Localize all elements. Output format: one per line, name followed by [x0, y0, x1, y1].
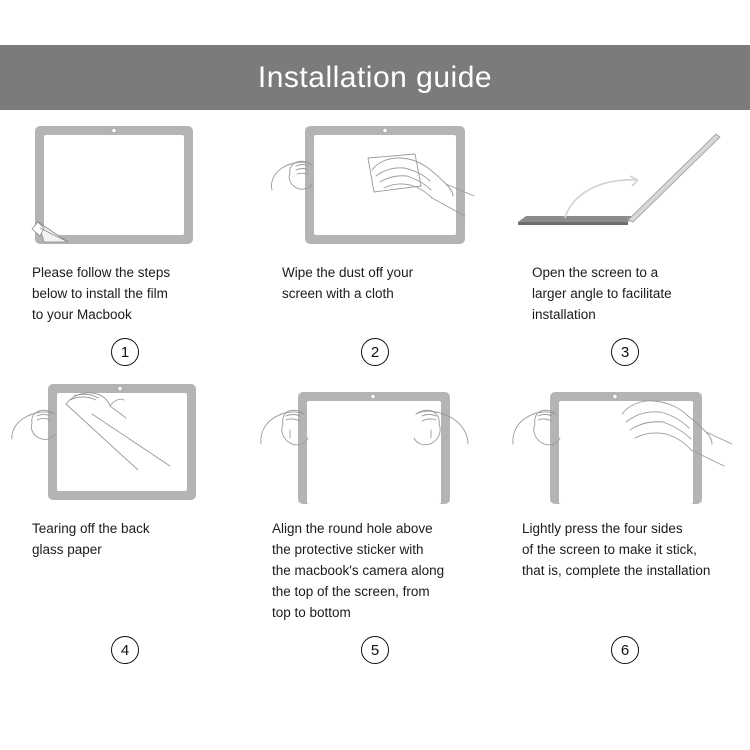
step-5-caption: Align the round hole above the protectiv… [260, 518, 490, 626]
step-number-badge: 2 [361, 338, 389, 366]
step-3-number-wrap: 3 [510, 338, 740, 366]
step-number-badge: 6 [611, 636, 639, 664]
step-number-badge: 3 [611, 338, 639, 366]
step-1: Please follow the steps below to install… [0, 118, 250, 366]
step-5-number-wrap: 5 [260, 636, 490, 664]
step-5: Align the round hole above the protectiv… [250, 374, 500, 664]
step-1-caption: Please follow the steps below to install… [10, 262, 240, 328]
page-title: Installation guide [258, 61, 492, 95]
step-4-illustration [10, 374, 240, 504]
step-6-illustration [510, 374, 740, 504]
step-5-illustration [260, 374, 490, 504]
step-1-number-wrap: 1 [10, 338, 240, 366]
installation-guide-page: Installation guide Please follow the ste… [0, 0, 750, 750]
step-2: Wipe the dust off your screen with a clo… [250, 118, 500, 366]
step-6: Lightly press the four sides of the scre… [500, 374, 750, 664]
step-2-number-wrap: 2 [260, 338, 490, 366]
step-2-caption: Wipe the dust off your screen with a clo… [260, 262, 490, 328]
step-6-number-wrap: 6 [510, 636, 740, 664]
steps-grid: Please follow the steps below to install… [0, 118, 750, 664]
step-4-number-wrap: 4 [10, 636, 240, 664]
step-3: Open the screen to a larger angle to fac… [500, 118, 750, 366]
step-4: Tearing off the back glass paper 4 [0, 374, 250, 664]
step-1-illustration [10, 118, 240, 248]
step-number-badge: 1 [111, 338, 139, 366]
step-number-badge: 5 [361, 636, 389, 664]
step-number-badge: 4 [111, 636, 139, 664]
step-6-caption: Lightly press the four sides of the scre… [510, 518, 740, 626]
step-2-illustration [260, 118, 490, 248]
step-3-caption: Open the screen to a larger angle to fac… [510, 262, 740, 328]
step-3-illustration [510, 118, 740, 248]
header-band: Installation guide [0, 45, 750, 110]
step-4-caption: Tearing off the back glass paper [10, 518, 240, 626]
